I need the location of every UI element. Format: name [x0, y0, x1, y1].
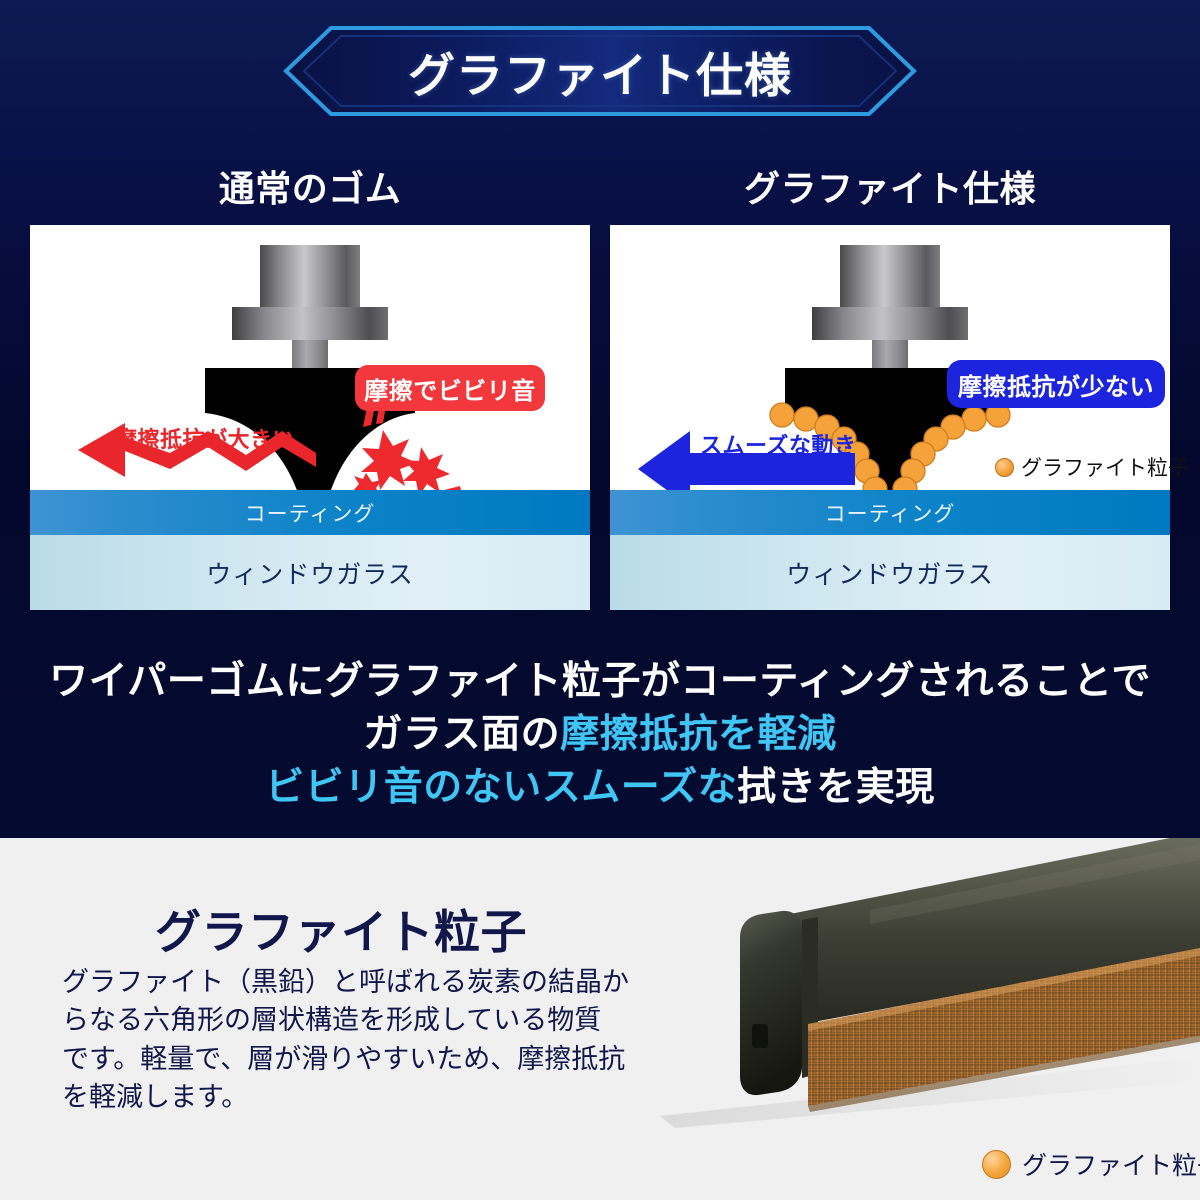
- graphite-legend-label: グラファイト粒子: [1022, 1146, 1200, 1182]
- right-panel-title: グラファイト仕様: [610, 160, 1170, 212]
- coating-layer-left: コーティング: [30, 490, 590, 535]
- low-friction-badge: 摩擦抵抗が少ない: [947, 360, 1165, 408]
- description-line-3-highlight-1: ビビリ音のない: [265, 766, 542, 809]
- graphite-particle-callout-label: グラファイト粒子: [1021, 452, 1189, 482]
- wiper-blade-photo: [570, 838, 1200, 1158]
- description-line-3-highlight-2: スムーズな: [542, 766, 738, 809]
- friction-noise-badge: 摩擦でビビリ音: [355, 365, 545, 411]
- description-line-1: ワイパーゴムにグラファイト粒子がコーティングされることで: [0, 650, 1200, 706]
- graphite-description-line-2: らなる六角形の層状構造を形成している物質: [62, 1001, 632, 1039]
- description-line-2-highlight: 摩擦抵抗を軽減: [560, 713, 837, 756]
- glass-layer-left: ウィンドウガラス: [30, 535, 590, 610]
- comparison-section: グラファイト仕様 通常のゴム グラファイト仕様: [0, 0, 1200, 838]
- banner-title: グラファイト仕様: [283, 25, 917, 117]
- description-line-3: ビビリ音のないスムーズな拭きを実現: [0, 756, 1200, 812]
- graphite-description-line-4: を軽減します。: [62, 1078, 632, 1116]
- description-line-2: ガラス面の摩擦抵抗を軽減: [0, 703, 1200, 759]
- infographic-page: グラファイト仕様 通常のゴム グラファイト仕様: [0, 0, 1200, 1200]
- graphite-heading: グラファイト粒子: [155, 896, 527, 962]
- graphite-description: グラファイト（黒鉛）と呼ばれる炭素の結晶か らなる六角形の層状構造を形成している…: [62, 963, 632, 1116]
- graphite-particle-callout: グラファイト粒子: [995, 452, 1189, 482]
- left-diagram-panel: コーティング ウィンドウガラス: [30, 225, 590, 610]
- graphite-description-line-1: グラファイト（黒鉛）と呼ばれる炭素の結晶か: [62, 963, 632, 1001]
- left-panel-title: 通常のゴム: [30, 160, 590, 212]
- description-line-3-plain: 拭きを実現: [737, 766, 935, 809]
- coating-layer-right: コーティング: [610, 490, 1170, 535]
- header-banner: グラファイト仕様: [283, 25, 917, 117]
- glass-layer-right: ウィンドウガラス: [610, 535, 1170, 610]
- right-diagram-panel: コーティング ウィンドウガラス: [610, 225, 1170, 610]
- graphite-legend: グラファイト粒子: [982, 1146, 1200, 1182]
- graphite-description-line-3: です。軽量で、層が滑りやすいため、摩擦抵抗: [62, 1040, 632, 1078]
- graphite-legend-icon: [982, 1150, 1011, 1179]
- smooth-motion-label: スムーズな動き: [700, 428, 856, 460]
- high-friction-label: 摩擦抵抗が大きい: [115, 422, 295, 454]
- description-line-2-plain: ガラス面の: [363, 713, 560, 756]
- graphite-particle-icon: [995, 458, 1014, 477]
